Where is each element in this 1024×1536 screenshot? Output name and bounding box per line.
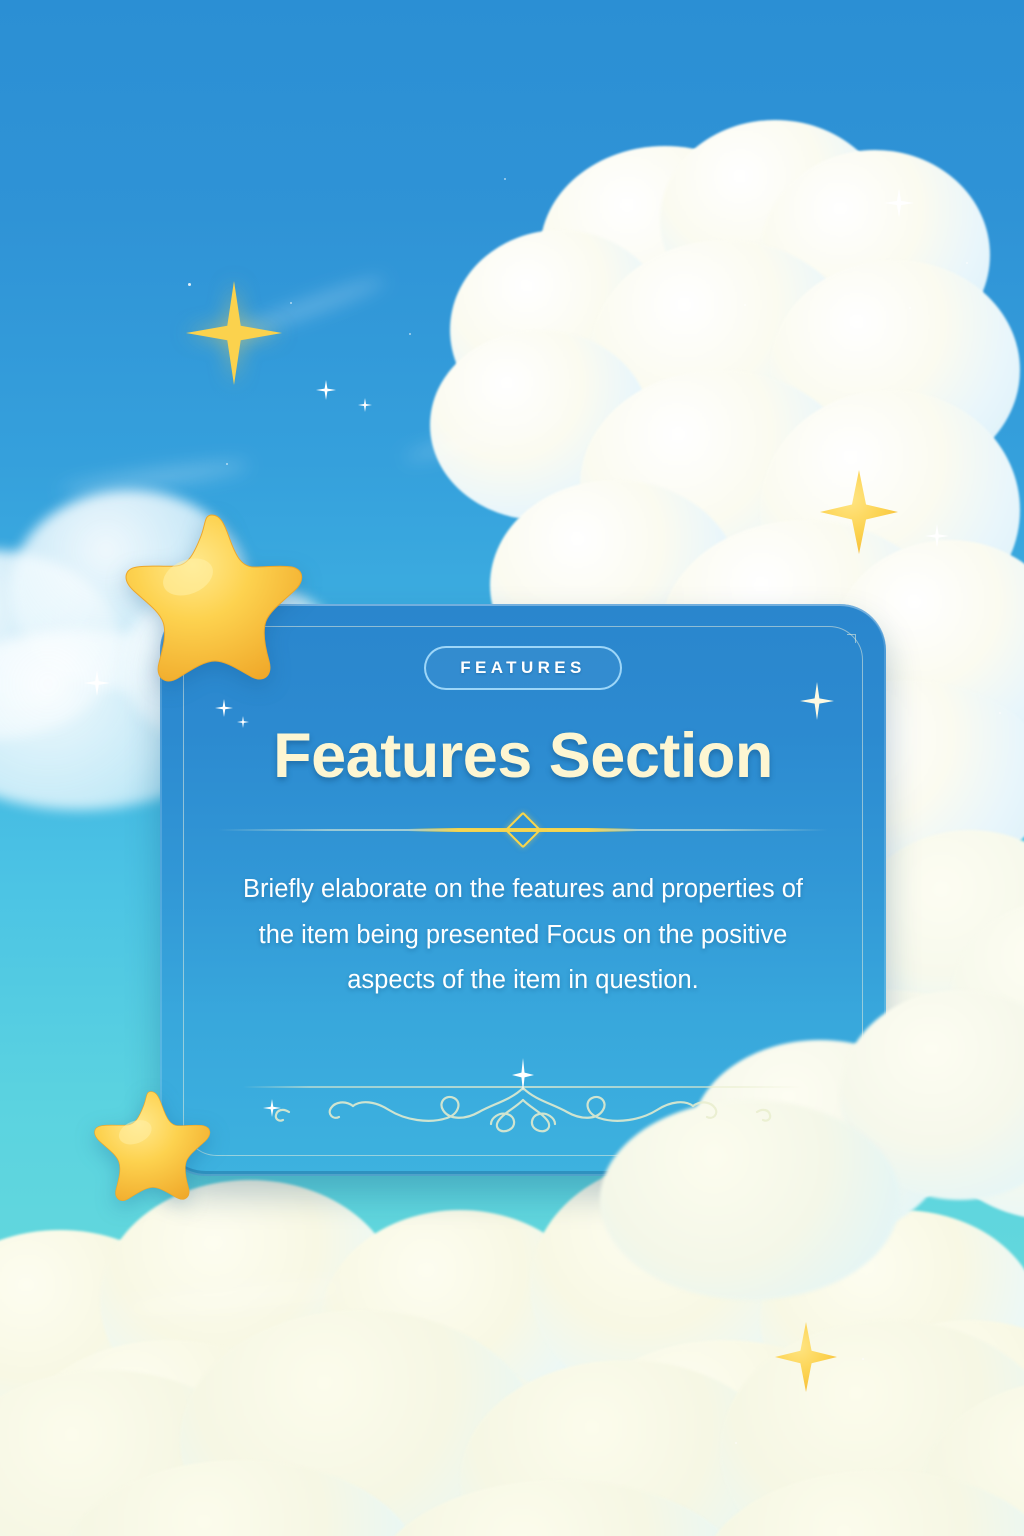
star-dot [504, 178, 506, 180]
card-body-text: Briefly elaborate on the features and pr… [218, 867, 828, 1003]
star-dot [966, 262, 968, 264]
star-dot [909, 307, 911, 309]
features-card[interactable]: FEATURES Features Section Briefly elabor… [160, 604, 886, 1176]
poster-canvas: FEATURES Features Section Briefly elabor… [0, 0, 1024, 1536]
four-point-sparkle-icon [316, 380, 336, 400]
star-dot [409, 333, 411, 335]
card-content: FEATURES Features Section Briefly elabor… [160, 604, 886, 1003]
page-title: Features Section [218, 723, 828, 789]
star-dot [862, 1358, 864, 1360]
diamond-icon [505, 812, 542, 849]
gold-diamond-divider [218, 817, 828, 843]
cloud-wisp [232, 273, 387, 341]
star-dot [188, 283, 191, 286]
star-dot [735, 1442, 737, 1444]
four-point-sparkle-icon [358, 398, 372, 412]
star-dot [226, 463, 228, 465]
star-dot [999, 712, 1001, 714]
star-dot [744, 304, 746, 306]
filigree-ornament [243, 1074, 803, 1138]
star-dot [290, 302, 292, 304]
features-badge[interactable]: FEATURES [424, 646, 622, 690]
cloud-foreground [0, 1230, 1024, 1536]
